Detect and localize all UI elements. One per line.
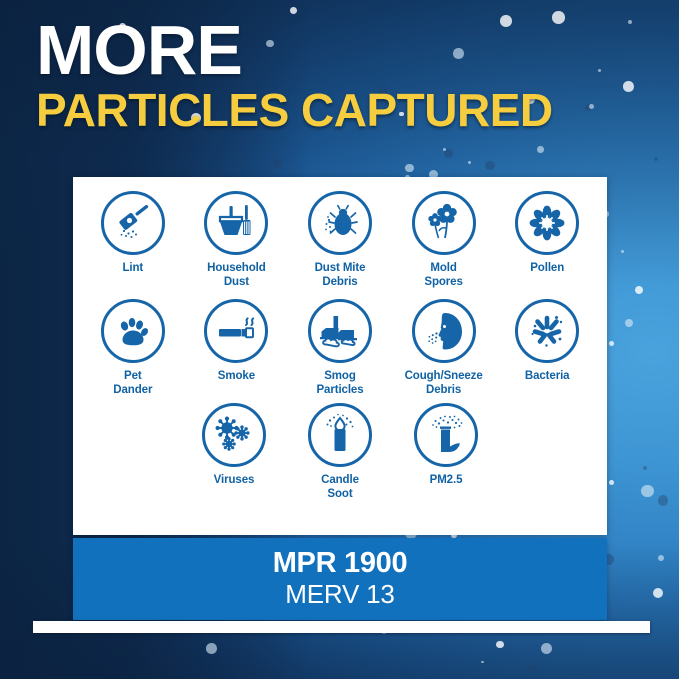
particle-label: PM2.5 bbox=[430, 474, 463, 488]
particle-label: Pollen bbox=[530, 262, 564, 276]
particle-label: SmogParticles bbox=[316, 370, 363, 397]
smokestack-pm-icon bbox=[414, 403, 478, 467]
headline-line-1: MORE bbox=[36, 18, 553, 84]
particle-item: PM2.5 bbox=[393, 403, 499, 501]
mpr-rating: MPR 1900 bbox=[273, 548, 408, 578]
particles-row: Lint HouseholdDust bbox=[81, 191, 599, 293]
particles-card: Lint HouseholdDust bbox=[73, 177, 607, 535]
mold-spores-flower-icon bbox=[412, 191, 476, 255]
particles-row: PetDander Smoke SmogParticles bbox=[81, 299, 599, 397]
particle-label: Cough/SneezeDebris bbox=[405, 370, 483, 397]
rating-banner: MPR 1900 MERV 13 bbox=[73, 538, 607, 620]
particle-item: CandleSoot bbox=[287, 403, 393, 501]
virus-icon bbox=[202, 403, 266, 467]
bottom-white-rule bbox=[33, 621, 650, 633]
particle-label: MoldSpores bbox=[424, 262, 462, 289]
smog-factory-icon bbox=[308, 299, 372, 363]
particle-label: CandleSoot bbox=[321, 474, 359, 501]
cigarette-smoke-icon bbox=[204, 299, 268, 363]
particle-item: SmogParticles bbox=[288, 299, 392, 397]
particle-item: MoldSpores bbox=[392, 191, 496, 289]
paw-print-icon bbox=[101, 299, 165, 363]
lint-roller-icon bbox=[101, 191, 165, 255]
candle-icon bbox=[308, 403, 372, 467]
particle-label: Dust MiteDebris bbox=[315, 262, 366, 289]
cough-sneeze-face-icon bbox=[412, 299, 476, 363]
particle-item: Smoke bbox=[185, 299, 289, 397]
headline-line-2: PARTICLES CAPTURED bbox=[36, 87, 553, 133]
particles-grid: Lint HouseholdDust bbox=[73, 177, 607, 535]
particle-label: HouseholdDust bbox=[207, 262, 266, 289]
pollen-flower-icon bbox=[515, 191, 579, 255]
particle-item: Bacteria bbox=[495, 299, 599, 397]
particle-item: Dust MiteDebris bbox=[288, 191, 392, 289]
particle-item: Lint bbox=[81, 191, 185, 289]
particle-item: HouseholdDust bbox=[185, 191, 289, 289]
particle-label: Lint bbox=[122, 262, 143, 276]
infographic-canvas: MORE PARTICLES CAPTURED Lint House bbox=[0, 0, 679, 679]
headline-block: MORE PARTICLES CAPTURED bbox=[36, 18, 553, 133]
dustpan-brush-icon bbox=[204, 191, 268, 255]
particle-item: Viruses bbox=[181, 403, 287, 501]
particle-label: Bacteria bbox=[525, 370, 570, 384]
bacteria-icon bbox=[515, 299, 579, 363]
dust-mite-icon bbox=[308, 191, 372, 255]
particle-item: PetDander bbox=[81, 299, 185, 397]
particle-item: Cough/SneezeDebris bbox=[392, 299, 496, 397]
particle-item: Pollen bbox=[495, 191, 599, 289]
particles-row: Viruses CandleSoot PM2.5 bbox=[81, 403, 599, 501]
particle-label: PetDander bbox=[113, 370, 152, 397]
particle-label: Smoke bbox=[218, 370, 255, 384]
particle-label: Viruses bbox=[214, 474, 255, 488]
merv-rating: MERV 13 bbox=[285, 580, 394, 610]
